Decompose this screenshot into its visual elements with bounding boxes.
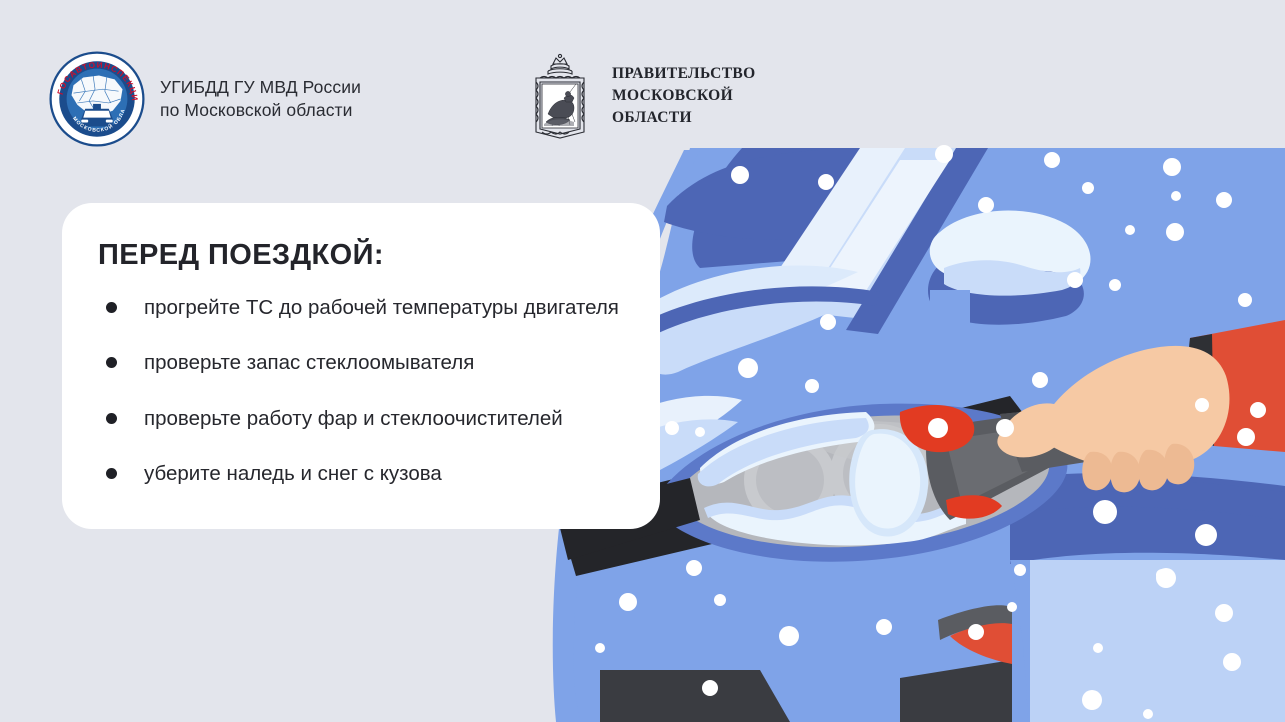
poster-root: ГОСАВТОИНСПЕКЦИЯ МОСКОВСКОЙ ОБЛАСТИ УГИБ… bbox=[0, 0, 1285, 722]
list-item-text: прогрейте ТС до рабочей температуры двиг… bbox=[144, 296, 619, 319]
checklist: прогрейте ТС до рабочей температуры двиг… bbox=[98, 294, 620, 487]
bullet-dot-icon bbox=[106, 413, 117, 424]
list-item: уберите наледь и снег с кузова bbox=[98, 460, 620, 487]
list-item-text: проверьте запас стеклоомывателя bbox=[144, 351, 474, 374]
mirror-arm bbox=[930, 290, 970, 346]
logo-gibdd-caption-line1: УГИБДД ГУ МВД России bbox=[160, 76, 361, 99]
list-item-text: уберите наледь и снег с кузова bbox=[144, 462, 442, 485]
gosavtoinspekciya-emblem-icon: ГОСАВТОИНСПЕКЦИЯ МОСКОВСКОЙ ОБЛАСТИ bbox=[48, 50, 146, 148]
list-item: проверьте работу фар и стеклоочистителей bbox=[98, 405, 620, 432]
list-item: проверьте запас стеклоомывателя bbox=[98, 349, 620, 376]
list-item: прогрейте ТС до рабочей температуры двиг… bbox=[98, 294, 620, 321]
bullet-dot-icon bbox=[106, 357, 117, 368]
logo-government-caption: ПРАВИТЕЛЬСТВО МОСКОВСКОЙ ОБЛАСТИ bbox=[612, 63, 756, 129]
bullet-dot-icon bbox=[106, 468, 117, 479]
logo-government: ПРАВИТЕЛЬСТВО МОСКОВСКОЙ ОБЛАСТИ bbox=[524, 52, 756, 140]
header: ГОСАВТОИНСПЕКЦИЯ МОСКОВСКОЙ ОБЛАСТИ УГИБ… bbox=[0, 0, 1285, 160]
checklist-card: ПЕРЕД ПОЕЗДКОЙ: прогрейте ТС до рабочей … bbox=[62, 203, 660, 529]
logo-government-caption-line2: МОСКОВСКОЙ bbox=[612, 85, 756, 107]
logo-government-caption-line1: ПРАВИТЕЛЬСТВО bbox=[612, 63, 756, 85]
logo-government-caption-line3: ОБЛАСТИ bbox=[612, 107, 756, 129]
moscow-region-coat-of-arms-icon bbox=[524, 52, 596, 140]
logo-gibdd-caption: УГИБДД ГУ МВД России по Московской облас… bbox=[160, 76, 361, 122]
lower-panel-light bbox=[1030, 560, 1285, 722]
list-item-text: проверьте работу фар и стеклоочистителей bbox=[144, 407, 563, 430]
card-title: ПЕРЕД ПОЕЗДКОЙ: bbox=[98, 239, 620, 272]
bullet-dot-icon bbox=[106, 302, 117, 313]
logo-gibdd-caption-line2: по Московской области bbox=[160, 99, 361, 122]
bumper-dark-left bbox=[600, 670, 790, 722]
logo-gibdd: ГОСАВТОИНСПЕКЦИЯ МОСКОВСКОЙ ОБЛАСТИ УГИБ… bbox=[48, 50, 361, 148]
